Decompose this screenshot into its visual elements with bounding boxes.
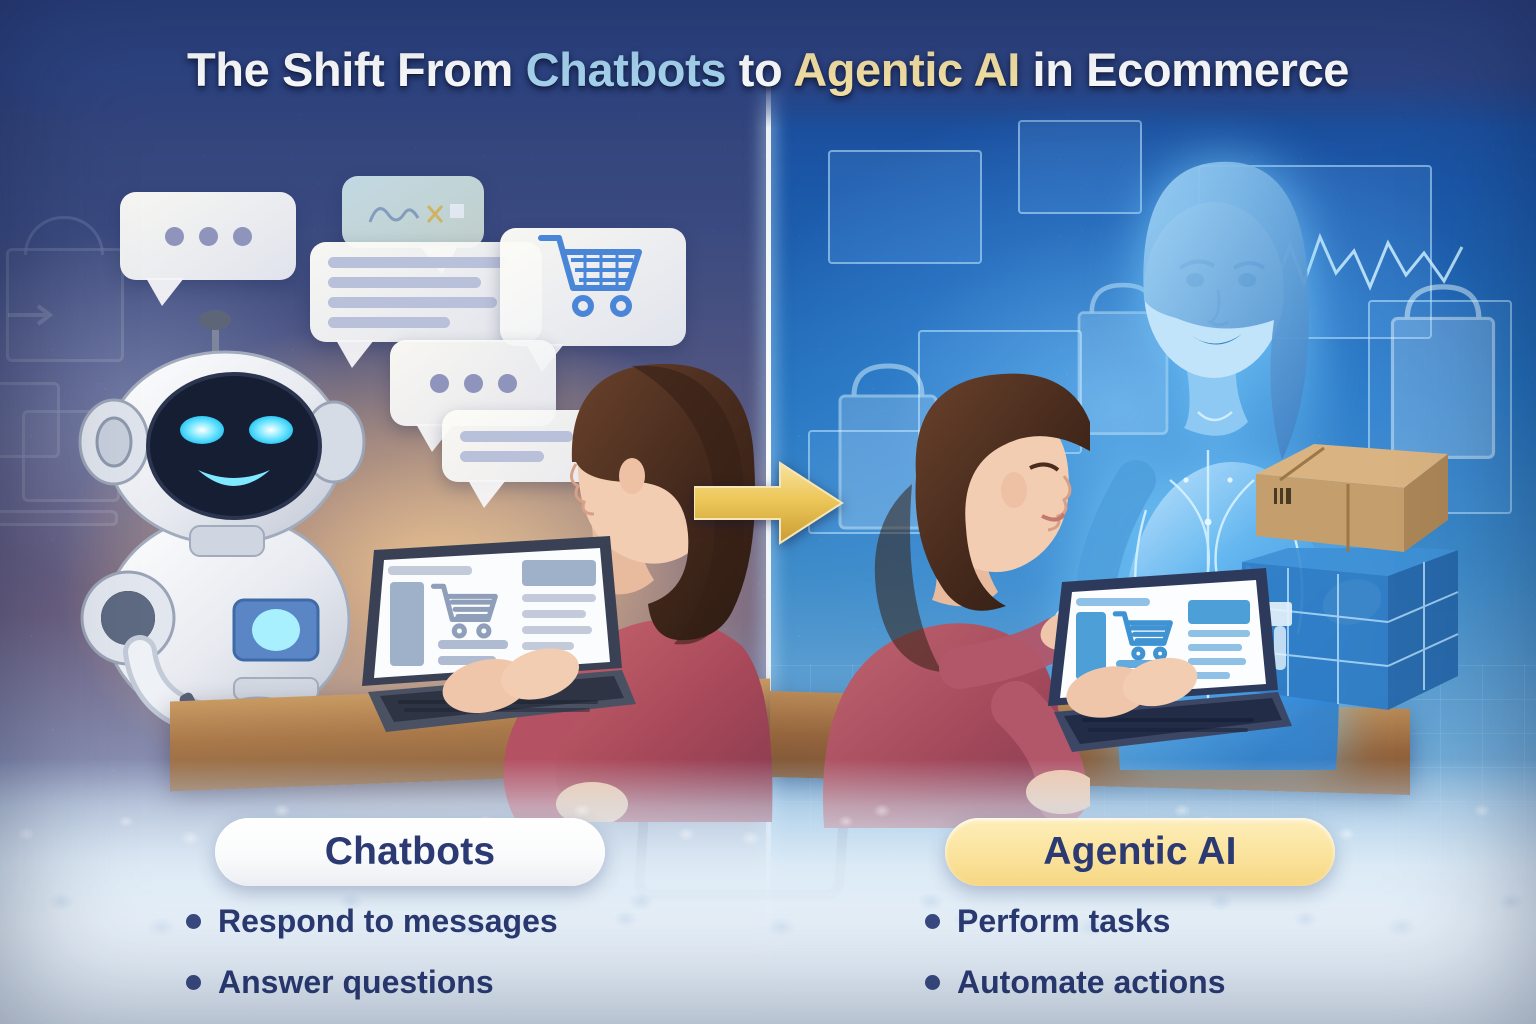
agentic-ai-label-pill[interactable]: Agentic AI	[945, 818, 1335, 886]
typing-dots	[120, 192, 296, 280]
title-part-3: to	[726, 43, 793, 96]
scribble-icon	[342, 176, 484, 248]
chatbots-label-text: Chatbots	[325, 830, 496, 874]
bubble-line	[328, 257, 508, 268]
bubble-line	[328, 277, 481, 288]
ghost-arrow-icon	[6, 300, 66, 330]
bullet-text: Answer questions	[218, 966, 494, 998]
infographic-canvas: The Shift From Chatbots to Agentic AI in…	[0, 0, 1536, 1024]
speech-bubble-scribble	[342, 176, 484, 248]
speech-bubble-cart	[500, 228, 686, 346]
title-part-chatbots: Chatbots	[526, 43, 726, 96]
title-part-1: The Shift From	[187, 43, 526, 96]
chatbots-bullet-list: Respond to messages Answer questions	[186, 905, 656, 1024]
chatbot-robot	[62, 300, 392, 730]
left-person-hands	[432, 640, 592, 730]
list-item: Answer questions	[186, 966, 656, 998]
agentic-ai-label-text: Agentic AI	[1043, 830, 1236, 874]
title-part-agentic-ai: Agentic AI	[793, 43, 1020, 96]
bullet-dot-icon	[925, 975, 940, 990]
bullet-text: Automate actions	[957, 966, 1225, 998]
bullet-text: Perform tasks	[957, 905, 1170, 937]
holo-panel-a	[828, 150, 982, 264]
chatbots-label-pill[interactable]: Chatbots	[215, 818, 605, 886]
list-item: Automate actions	[925, 966, 1395, 998]
list-item: Respond to messages	[186, 905, 656, 937]
typing-dot	[430, 374, 449, 393]
bullet-dot-icon	[186, 914, 201, 929]
cardboard-box	[1252, 440, 1452, 560]
typing-dot	[165, 227, 184, 246]
left-ghost-arrow	[6, 300, 66, 330]
transition-arrow[interactable]	[694, 457, 844, 549]
typing-dot	[199, 227, 218, 246]
right-person-hands	[1056, 648, 1206, 734]
list-item: Perform tasks	[925, 905, 1395, 937]
shopping-cart-icon	[535, 228, 651, 320]
bullet-dot-icon	[186, 975, 201, 990]
title-part-5: in Ecommerce	[1020, 43, 1349, 96]
speech-bubble-typing-1	[120, 192, 296, 280]
bullet-text: Respond to messages	[218, 905, 558, 937]
agentic-ai-bullet-list: Perform tasks Automate actions	[925, 905, 1395, 1024]
typing-dot	[233, 227, 252, 246]
bullet-dot-icon	[925, 914, 940, 929]
page-title: The Shift From Chatbots to Agentic AI in…	[0, 42, 1536, 97]
